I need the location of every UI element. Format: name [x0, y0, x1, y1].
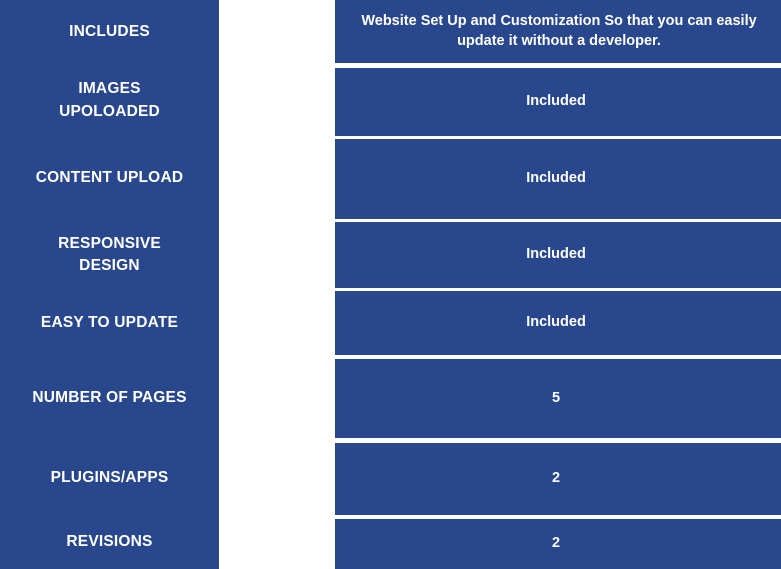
pricing-comparison-table: INCLUDES IMAGES UPOLOADED CONTENT UPLOAD… — [0, 0, 781, 569]
feature-label-number-of-pages: NUMBER OF PAGES — [0, 356, 219, 440]
plan-value-cell-revisions: 2 — [335, 519, 781, 569]
plan-value-text: Included — [330, 245, 781, 265]
plan-header-text: Website Set Up and Customization So that… — [333, 12, 781, 50]
plan-header-cell: Website Set Up and Customization So that… — [335, 0, 781, 63]
feature-label-responsive-design: RESPONSIVE DESIGN — [0, 220, 219, 290]
feature-label-text: REVISIONS — [66, 531, 152, 553]
feature-label-text: INCLUDES — [69, 21, 150, 43]
plan-value-text: 5 — [330, 389, 781, 409]
plan-value-text: 2 — [330, 469, 781, 489]
feature-label-text: RESPONSIVE DESIGN — [58, 233, 161, 278]
plan-value-column: Website Set Up and Customization So that… — [335, 0, 781, 569]
feature-label-text: CONTENT UPLOAD — [36, 167, 183, 189]
plan-value-text: Included — [330, 169, 781, 189]
plan-value-text: Included — [330, 313, 781, 333]
plan-value-cell-number-of-pages: 5 — [335, 359, 781, 438]
plan-value-text: 2 — [330, 534, 781, 554]
feature-label-text: EASY TO UPDATE — [41, 312, 178, 334]
feature-label-plugins-apps: PLUGINS/APPS — [0, 440, 219, 516]
plan-value-cell-images-uploaded: Included — [335, 68, 781, 136]
plan-value-cell-easy-to-update: Included — [335, 291, 781, 355]
plan-value-cell-plugins-apps: 2 — [335, 443, 781, 515]
feature-label-easy-to-update: EASY TO UPDATE — [0, 290, 219, 356]
plan-value-cell-responsive-design: Included — [335, 222, 781, 288]
plan-value-cell-content-upload: Included — [335, 139, 781, 219]
feature-label-text: PLUGINS/APPS — [51, 467, 169, 489]
plan-value-text: Included — [330, 92, 781, 112]
feature-label-content-upload: CONTENT UPLOAD — [0, 137, 219, 220]
feature-label-text: NUMBER OF PAGES — [32, 387, 186, 409]
feature-label-revisions: REVISIONS — [0, 516, 219, 569]
feature-label-images-uploaded: IMAGES UPOLOADED — [0, 64, 219, 137]
feature-label-text: IMAGES UPOLOADED — [59, 78, 160, 123]
feature-label-includes: INCLUDES — [0, 0, 219, 64]
feature-label-column: INCLUDES IMAGES UPOLOADED CONTENT UPLOAD… — [0, 0, 219, 569]
